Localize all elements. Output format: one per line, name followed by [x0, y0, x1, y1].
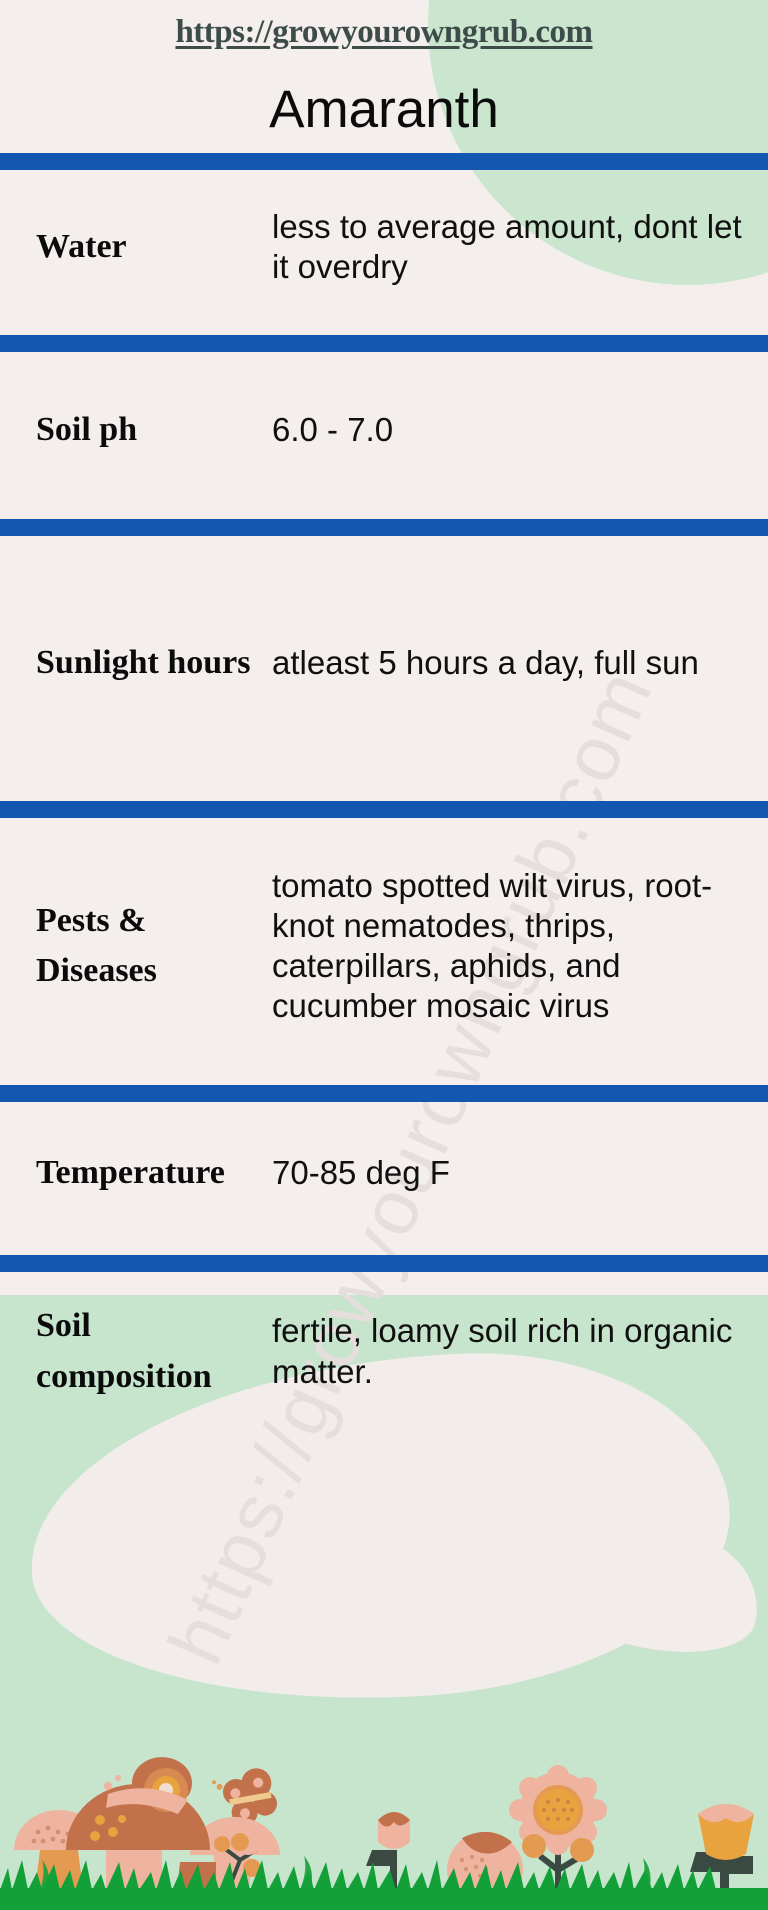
divider-brush-5 [0, 1082, 768, 1104]
table-row: Sunlight hours atleast 5 hours a day, fu… [0, 538, 768, 788]
row-value-soil-ph: 6.0 - 7.0 [272, 410, 768, 450]
plant-info-card: https://growyourowngrub.com https://grow… [0, 0, 768, 1910]
divider-brush-3 [0, 516, 768, 538]
table-row: Water less to average amount, dont let i… [0, 172, 768, 322]
row-label-water: Water [0, 222, 272, 272]
row-label-temperature: Temperature [0, 1148, 272, 1198]
row-label-soil-ph: Soil ph [0, 405, 272, 455]
page-title: Amaranth [0, 79, 768, 140]
row-value-soil-composition: fertile, loamy soil rich in organic matt… [272, 1311, 768, 1392]
row-value-sunlight-hours: atleast 5 hours a day, full sun [272, 643, 768, 683]
row-label-soil-composition: Soil composition [0, 1301, 272, 1402]
row-label-pests-diseases: Pests & Diseases [0, 896, 272, 997]
table-row: Soil ph 6.0 - 7.0 [0, 354, 768, 506]
row-value-water: less to average amount, dont let it over… [272, 207, 768, 288]
divider-brush-6 [0, 1252, 768, 1274]
row-value-pests-diseases: tomato spotted wilt virus, root-knot nem… [272, 866, 768, 1027]
card-content: https://growyourowngrub.com Amaranth Wat… [0, 0, 768, 1429]
divider-brush-2 [0, 332, 768, 354]
divider-brush-1 [0, 150, 768, 172]
table-row: Pests & Diseases tomato spotted wilt vir… [0, 820, 768, 1072]
table-row: Soil composition fertile, loamy soil ric… [0, 1274, 768, 1429]
site-url-link[interactable]: https://growyourowngrub.com [0, 0, 768, 51]
garden-illustration [0, 1710, 768, 1910]
table-row: Temperature 70-85 deg F [0, 1104, 768, 1242]
divider-brush-4 [0, 798, 768, 820]
row-value-temperature: 70-85 deg F [272, 1153, 768, 1193]
row-label-sunlight-hours: Sunlight hours [0, 638, 272, 688]
